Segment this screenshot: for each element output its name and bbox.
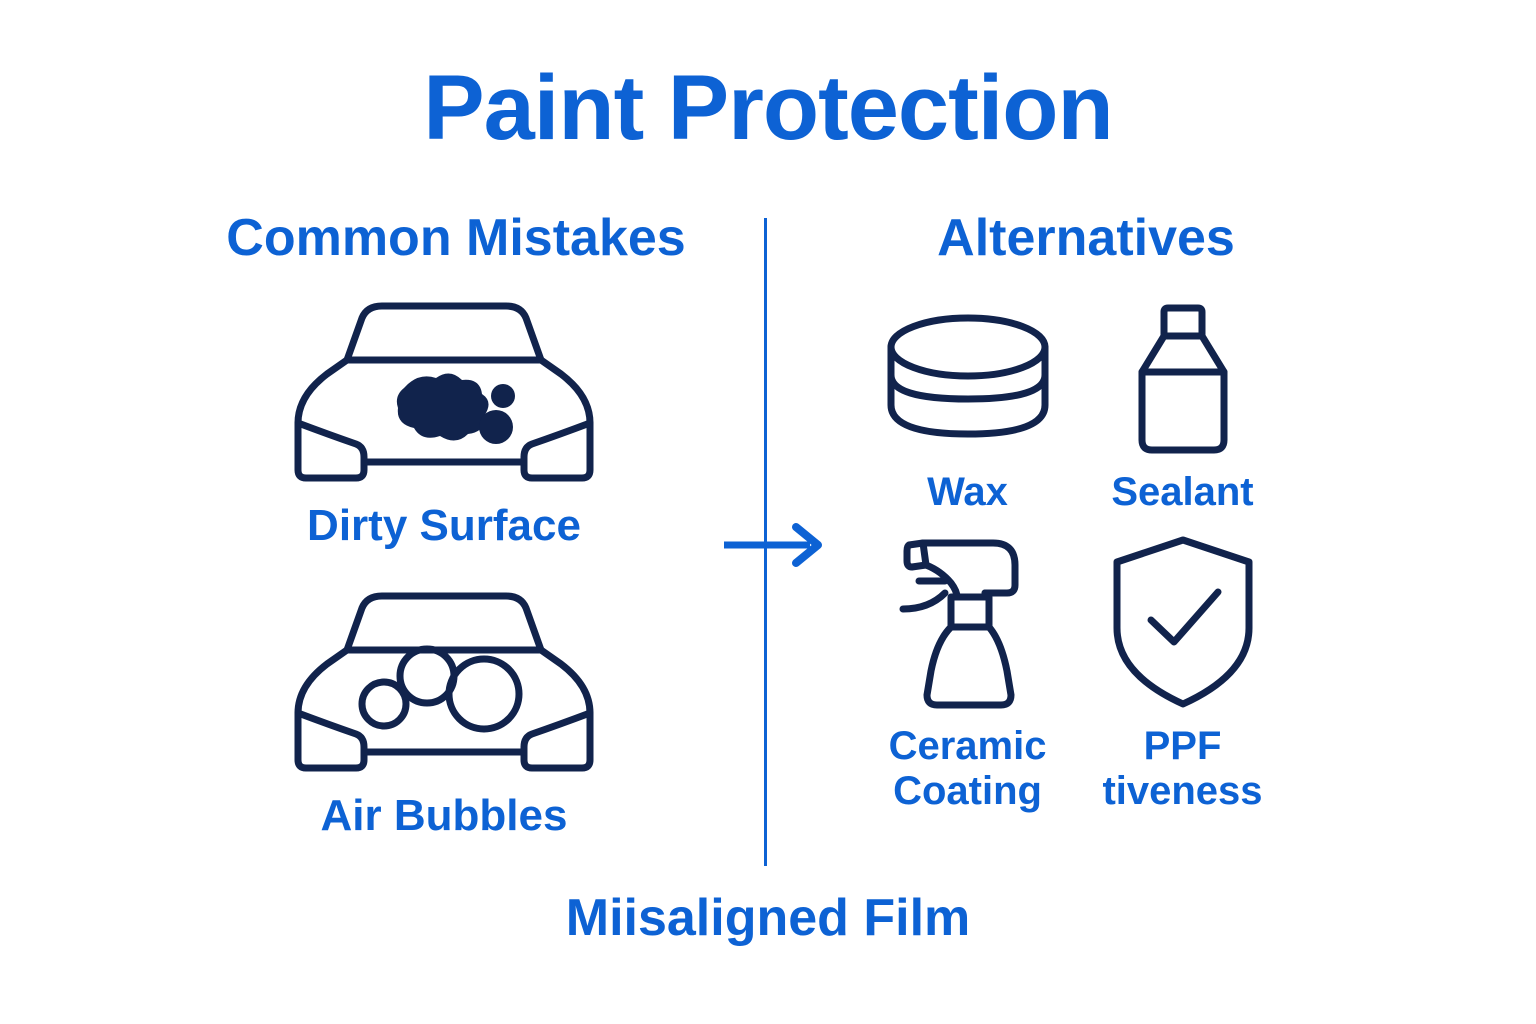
spray-bottle-icon	[889, 532, 1047, 712]
dirt-blob-large	[397, 373, 489, 440]
alternative-label-sealant: Sealant	[1111, 470, 1253, 515]
mistake-label-air-bubbles: Air Bubbles	[244, 792, 644, 840]
sealant-bottle-icon	[1123, 300, 1243, 458]
alternative-item-wax: Wax	[860, 300, 1075, 532]
car-air-bubbles-icon	[244, 582, 644, 778]
mistake-item-air-bubbles: Air Bubbles	[244, 582, 644, 840]
alternative-item-ppf: PPF tiveness	[1075, 532, 1290, 814]
arrow-right-icon	[722, 522, 826, 568]
infographic-canvas: Paint Protection Common Mistakes Alterna…	[0, 0, 1536, 1024]
left-column-heading: Common Mistakes	[200, 208, 712, 268]
car-dirty-spots-icon	[244, 292, 644, 488]
page-title: Paint Protection	[0, 60, 1536, 157]
alternative-label-ceramic-coating: Ceramic Coating	[889, 724, 1047, 814]
alternatives-grid: Wax Sealant	[860, 300, 1290, 814]
alternative-item-ceramic-coating: Ceramic Coating	[860, 532, 1075, 814]
bubble-large	[449, 659, 519, 729]
mistake-label-dirty-surface: Dirty Surface	[244, 502, 644, 550]
alternative-label-wax: Wax	[927, 470, 1008, 515]
right-column-heading: Alternatives	[900, 208, 1272, 268]
mistake-item-dirty-surface: Dirty Surface	[244, 292, 644, 550]
alternative-item-sealant: Sealant	[1075, 300, 1290, 532]
dirt-dot-small	[491, 384, 515, 408]
dirt-dot-medium	[479, 410, 513, 444]
shield-check-icon	[1108, 532, 1258, 712]
wax-tub-icon	[879, 300, 1057, 458]
alternative-label-ppf: PPF tiveness	[1102, 724, 1262, 814]
footer-caption: Miisaligned Film	[0, 888, 1536, 948]
